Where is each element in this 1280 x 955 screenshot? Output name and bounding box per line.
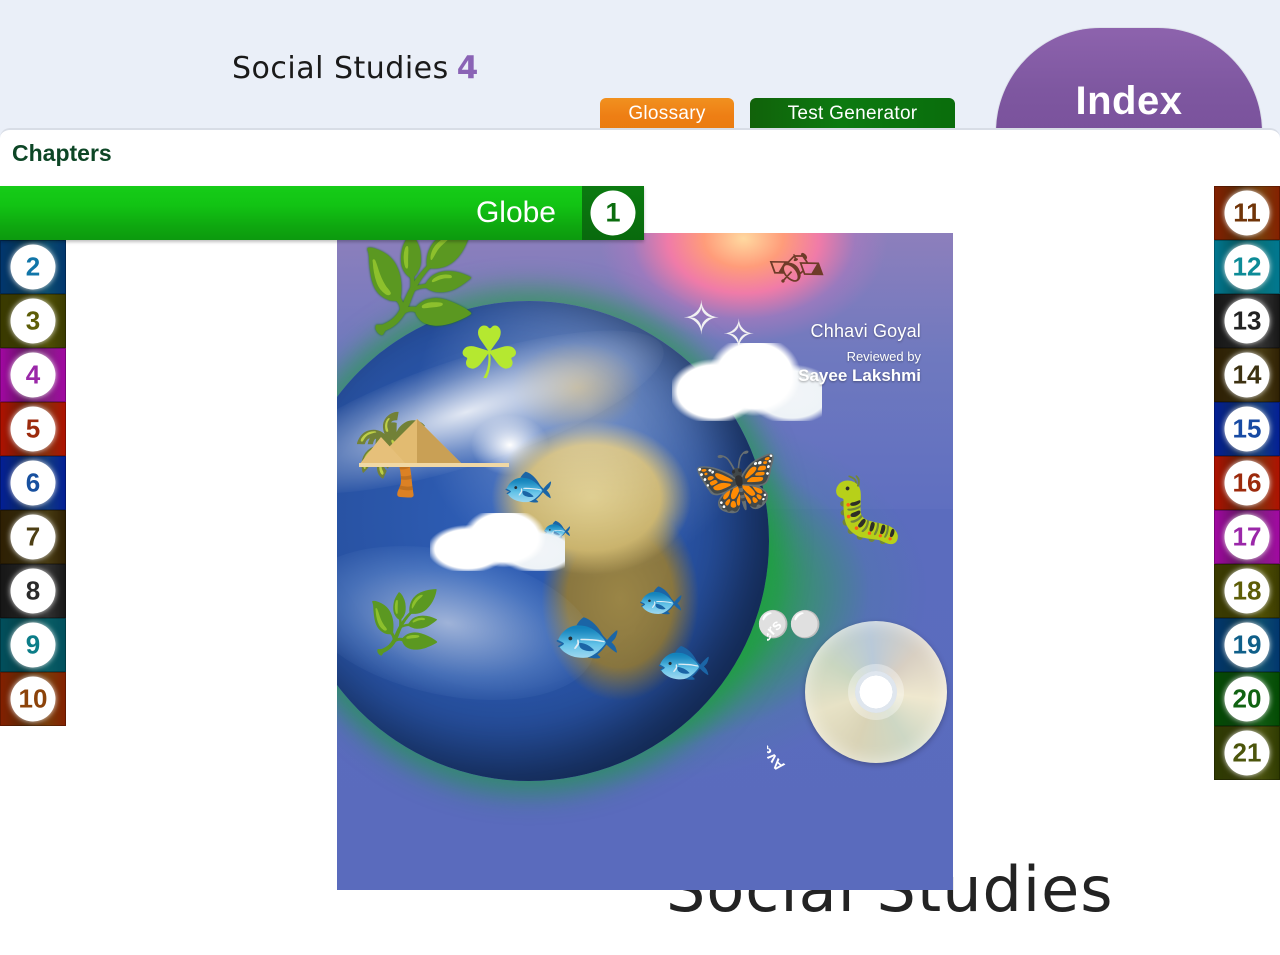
chapter-tab-7[interactable]: 7 [0,510,66,564]
current-chapter-title: Globe [476,196,556,230]
glossary-button[interactable]: Glossary [600,98,734,132]
chapter-tab-4[interactable]: 4 [0,348,66,402]
test-generator-button[interactable]: Test Generator [750,98,955,132]
cd-label-text: Available for Teachers [767,616,788,774]
chapter-number-17: 17 [1225,515,1270,560]
chapter-number-12: 12 [1225,245,1270,290]
current-chapter-number: 1 [591,191,636,236]
chapter-number-21: 21 [1225,731,1270,776]
chapter-tab-2[interactable]: 2 [0,240,66,294]
chapter-tab-15[interactable]: 15 [1214,402,1280,456]
chapter-tab-5[interactable]: 5 [0,402,66,456]
chapter-tab-14[interactable]: 14 [1214,348,1280,402]
cd-label: Available for Teachers [767,603,942,778]
cover-reviewed-by-label: Reviewed by [798,349,921,364]
chapter-number-11: 11 [1225,191,1270,236]
page-title-text: Social Studies [232,51,449,86]
chapter-tab-18[interactable]: 18 [1214,564,1280,618]
chapter-tab-12[interactable]: 12 [1214,240,1280,294]
chapter-tab-13[interactable]: 13 [1214,294,1280,348]
chapter-number-19: 19 [1225,623,1270,668]
chapter-number-5: 5 [11,407,56,452]
chapter-number-7: 7 [11,515,56,560]
current-chapter-number-box: 1 [582,186,644,240]
chapter-tab-11[interactable]: 11 [1214,186,1280,240]
chapter-tab-6[interactable]: 6 [0,456,66,510]
chapter-tab-3[interactable]: 3 [0,294,66,348]
chapter-number-13: 13 [1225,299,1270,344]
chapter-number-18: 18 [1225,569,1270,614]
chapters-heading: Chapters [12,140,112,167]
compact-disc-graphic: Available for Teachers [767,603,942,778]
current-chapter-bar[interactable]: Globe 1 [0,186,644,240]
chapter-tab-10[interactable]: 10 [0,672,66,726]
app-header: Social Studies4 Glossary Test Generator … [0,0,1280,132]
chapter-tab-9[interactable]: 9 [0,618,66,672]
book-cover-image[interactable]: 🌿 🌴 ☘ 🌿 🐟 🐟 🐟 🐟 🐟 🦋 🐛 🛰 ✧ ✧ ⚪⚪ Chhavi Go… [337,233,953,890]
cover-reviewer-name: Sayee Lakshmi [798,366,921,386]
page-title: Social Studies4 [232,50,479,86]
chapter-tab-19[interactable]: 19 [1214,618,1280,672]
cover-author-name: Chhavi Goyal [798,321,921,342]
index-button-label: Index [996,79,1262,124]
globe-ocean-swirl [337,521,608,724]
chapter-number-3: 3 [11,299,56,344]
chapter-number-14: 14 [1225,353,1270,398]
chapter-number-6: 6 [11,461,56,506]
grade-number: 4 [457,50,479,86]
chapter-number-8: 8 [11,569,56,614]
chapter-number-16: 16 [1225,461,1270,506]
chapter-tab-16[interactable]: 16 [1214,456,1280,510]
index-button[interactable]: Index [996,28,1262,132]
chapters-panel: Chapters Globe 1 2345678910 111213141516… [0,128,1280,955]
chapter-tab-17[interactable]: 17 [1214,510,1280,564]
chapter-number-9: 9 [11,623,56,668]
chapter-tab-21[interactable]: 21 [1214,726,1280,780]
chapter-number-20: 20 [1225,677,1270,722]
chapter-number-10: 10 [11,677,56,722]
chapter-tab-20[interactable]: 20 [1214,672,1280,726]
chapter-number-4: 4 [11,353,56,398]
chapter-number-15: 15 [1225,407,1270,452]
chapter-number-2: 2 [11,245,56,290]
cover-author-block: Chhavi Goyal Reviewed by Sayee Lakshmi [798,321,921,386]
chapter-tab-8[interactable]: 8 [0,564,66,618]
